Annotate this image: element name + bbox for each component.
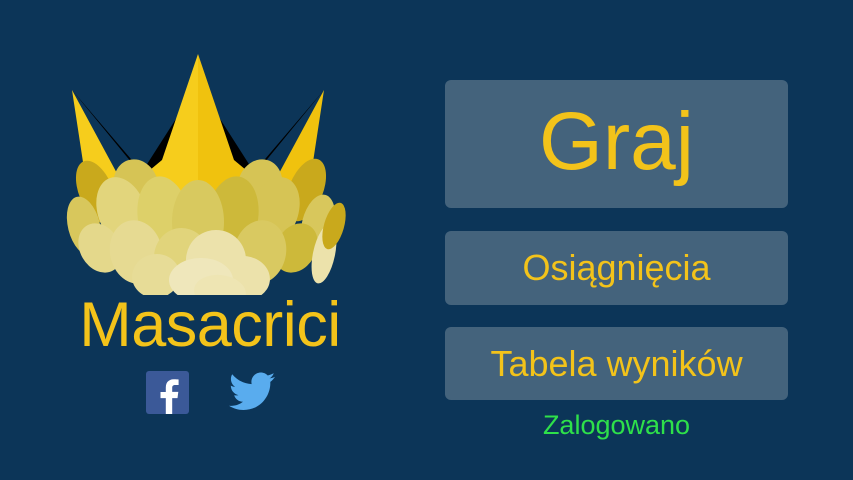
leaderboard-button-label: Tabela wyników [490, 346, 742, 382]
achievements-button[interactable]: Osiągnięcia [445, 231, 788, 305]
achievements-button-label: Osiągnięcia [522, 250, 710, 286]
leaderboard-button[interactable]: Tabela wyników [445, 327, 788, 400]
login-status-text: Zalogowano [445, 408, 788, 442]
facebook-icon[interactable] [146, 371, 189, 414]
play-button[interactable]: Graj [445, 80, 788, 208]
crown-logo-icon [38, 40, 358, 295]
main-menu-panel: Graj Osiągnięcia Tabela wyników Zalogowa… [445, 0, 788, 480]
twitter-icon[interactable] [229, 372, 275, 412]
play-button-label: Graj [539, 101, 694, 183]
logo-panel: Masacrici [0, 0, 420, 480]
page-title: Masacrici [0, 292, 420, 358]
social-links-row [0, 368, 420, 416]
game-main-menu-screen: Masacrici Graj Osiągnięcia Tabela [0, 0, 853, 480]
